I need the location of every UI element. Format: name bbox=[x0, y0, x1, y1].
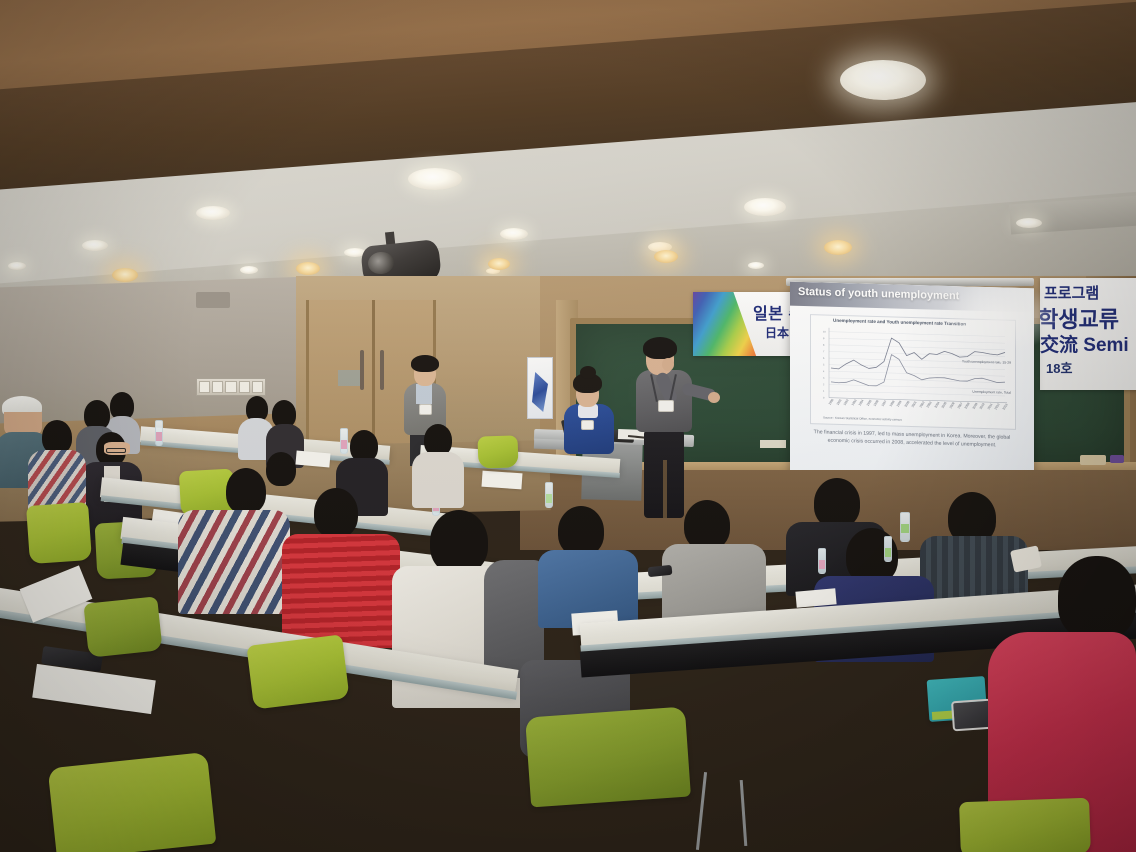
ceiling-downlight bbox=[8, 262, 26, 270]
name-badge bbox=[581, 420, 594, 430]
projection-screen: Status of youth unemployment Unemploymen… bbox=[790, 282, 1034, 499]
ceiling-warm-light bbox=[112, 268, 138, 282]
banner-right-line4: 18호 bbox=[1046, 358, 1072, 377]
light-switch[interactable] bbox=[212, 381, 223, 393]
bottle-label bbox=[901, 524, 909, 533]
chart-x-tick: 2003 bbox=[926, 401, 933, 409]
ceiling-downlight bbox=[196, 206, 230, 220]
audience-body-striped bbox=[282, 534, 400, 648]
light-switch[interactable] bbox=[239, 381, 250, 393]
chart-line-unemployment bbox=[831, 353, 1005, 390]
ceiling-warm-light bbox=[824, 240, 852, 255]
assistant-hair bbox=[411, 355, 439, 372]
chart-x-tick: 2012 bbox=[994, 403, 1001, 411]
audience-head bbox=[226, 468, 266, 514]
presentation-slide: Status of youth unemployment Unemploymen… bbox=[790, 282, 1034, 499]
ceiling-downlight bbox=[744, 198, 786, 216]
water-bottle[interactable] bbox=[545, 482, 553, 508]
audience-head bbox=[42, 420, 72, 454]
seated-host bbox=[564, 372, 620, 462]
chair[interactable] bbox=[959, 798, 1091, 852]
ceiling-warm-light bbox=[488, 258, 510, 270]
light-switch-panel[interactable] bbox=[196, 378, 266, 396]
bottle-label bbox=[156, 432, 162, 441]
hair-bun bbox=[580, 366, 596, 379]
svg-text:9: 9 bbox=[823, 337, 825, 340]
name-badge bbox=[419, 404, 432, 415]
chalk-marker[interactable] bbox=[1110, 455, 1124, 463]
tablet[interactable] bbox=[951, 699, 993, 732]
light-switch[interactable] bbox=[252, 381, 263, 393]
audience-head bbox=[314, 488, 358, 538]
bottle-label bbox=[341, 440, 347, 449]
banner-right-line1: 프로그램 bbox=[1044, 282, 1099, 303]
water-bottle[interactable] bbox=[155, 420, 163, 446]
svg-text:10: 10 bbox=[823, 331, 826, 334]
chalkboard-eraser[interactable] bbox=[1080, 455, 1106, 465]
chart-x-tick: 1994 bbox=[858, 399, 865, 407]
assistant-shirt bbox=[416, 384, 432, 404]
chart-x-tick: 1996 bbox=[873, 399, 880, 407]
svg-text:2: 2 bbox=[823, 383, 825, 386]
chair[interactable] bbox=[48, 752, 217, 852]
presenter-leg-gap bbox=[663, 460, 667, 518]
svg-text:0: 0 bbox=[823, 397, 825, 400]
presenter-hair bbox=[643, 337, 677, 359]
banner-right-line3: 交流 Semi bbox=[1040, 330, 1129, 357]
ceiling-downlight bbox=[240, 266, 258, 274]
svg-text:4: 4 bbox=[823, 370, 825, 373]
svg-text:7: 7 bbox=[823, 350, 825, 353]
presenter bbox=[636, 340, 716, 520]
slide-body-text: The financial crisis in 1997, led to mas… bbox=[804, 428, 1020, 450]
name-badge bbox=[658, 400, 674, 412]
slide-chart: Unemployment rate and Youth unemployment… bbox=[810, 314, 1016, 430]
ceiling-downlight bbox=[408, 168, 462, 190]
chalk-note bbox=[760, 440, 786, 448]
light-switch[interactable] bbox=[225, 381, 236, 393]
water-bottle[interactable] bbox=[818, 548, 826, 574]
door-window bbox=[338, 370, 360, 386]
presenter-hand bbox=[708, 392, 720, 403]
handout-paper[interactable] bbox=[295, 451, 330, 468]
audience-head bbox=[266, 452, 296, 486]
audience-body bbox=[412, 452, 464, 508]
audience-head-foreground bbox=[1058, 556, 1136, 640]
chart-plot-area: 012345678910 bbox=[823, 328, 1009, 407]
banner-right: 프로그램 학생교류 交流 Semi 18호 bbox=[1040, 278, 1136, 390]
chart-line-youth-unemployment bbox=[831, 336, 1005, 373]
audience-body-plaid bbox=[178, 510, 290, 614]
audience-head bbox=[684, 500, 730, 550]
ceiling-downlight bbox=[1016, 218, 1042, 228]
chair-leg bbox=[740, 780, 748, 846]
svg-text:8: 8 bbox=[823, 344, 825, 347]
eyeglasses-icon bbox=[106, 448, 126, 453]
light-switch[interactable] bbox=[199, 381, 210, 393]
svg-text:5: 5 bbox=[823, 364, 825, 367]
chart-x-tick: 2010 bbox=[979, 402, 986, 410]
presenter-hand bbox=[662, 358, 674, 371]
water-bottle[interactable] bbox=[900, 512, 910, 542]
handout-paper[interactable] bbox=[32, 664, 156, 714]
handout-paper[interactable] bbox=[481, 471, 522, 490]
bottle-label bbox=[819, 560, 825, 569]
svg-text:1: 1 bbox=[823, 390, 825, 393]
svg-text:3: 3 bbox=[823, 377, 825, 380]
chair[interactable] bbox=[525, 707, 691, 808]
bottle-label bbox=[885, 548, 891, 557]
ceiling-warm-light bbox=[296, 262, 320, 275]
water-bottle[interactable] bbox=[340, 428, 348, 454]
chair[interactable] bbox=[26, 502, 92, 564]
chart-title: Unemployment rate and Youth unemployment… bbox=[833, 318, 966, 327]
chair-leg bbox=[696, 772, 707, 850]
svg-text:6: 6 bbox=[823, 357, 825, 360]
audience-head bbox=[558, 506, 604, 556]
bottle-label bbox=[546, 494, 552, 503]
chart-y-tick-labels: 012345678910 bbox=[823, 331, 826, 400]
ceiling-downlight bbox=[500, 228, 528, 240]
chart-x-tick: 2008 bbox=[964, 402, 971, 410]
chair[interactable] bbox=[246, 634, 349, 709]
water-bottle[interactable] bbox=[884, 536, 892, 562]
ceiling-downlight bbox=[82, 240, 108, 251]
chart-x-tick: 2005 bbox=[941, 401, 948, 409]
door-handle[interactable] bbox=[380, 350, 384, 390]
lecture-hall-photo: 일본 쥬오 日本 프로그램 학생교류 交流 Semi 18호 Status of… bbox=[0, 0, 1136, 852]
chair[interactable] bbox=[83, 596, 162, 657]
ceiling-warm-light bbox=[654, 250, 678, 263]
chair[interactable] bbox=[477, 435, 518, 468]
chart-x-tick: 2001 bbox=[911, 400, 918, 408]
door-handle[interactable] bbox=[360, 350, 364, 390]
wall-speaker bbox=[196, 292, 230, 308]
chart-source-note: Source : Korean Statistical Office, econ… bbox=[823, 416, 902, 422]
audience-head bbox=[430, 510, 488, 574]
ceiling-downlight bbox=[748, 262, 764, 269]
audience-head bbox=[814, 478, 860, 528]
ceiling-downlight bbox=[840, 60, 926, 100]
